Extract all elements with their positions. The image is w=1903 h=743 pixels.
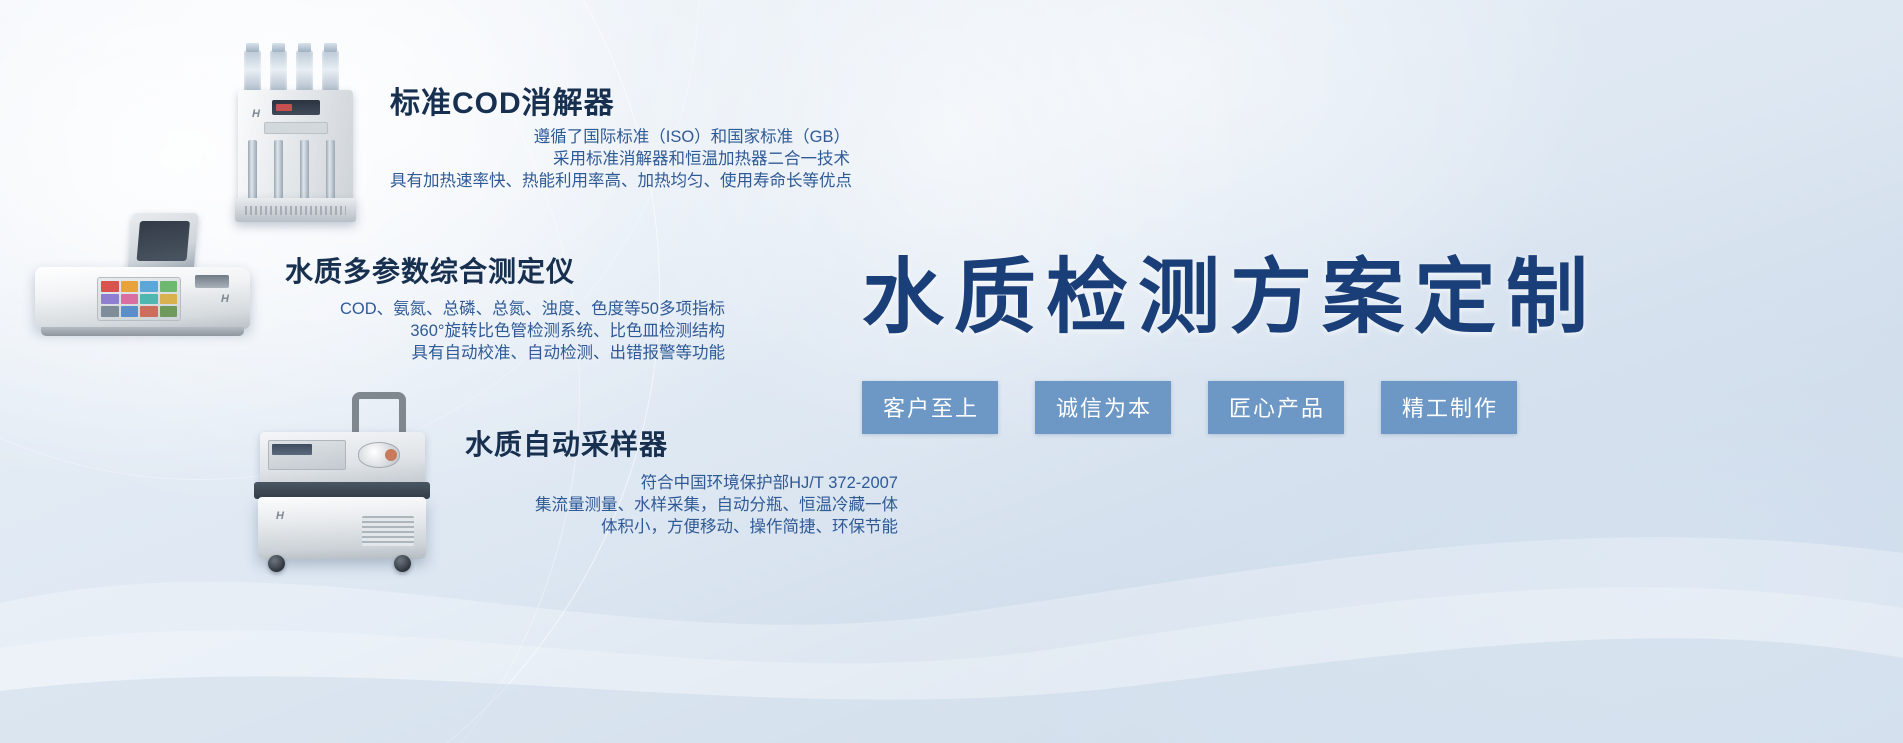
sampler-handle	[352, 392, 406, 434]
cod-digester-image: H	[238, 50, 353, 220]
product-desc-line: COD、氨氮、总磷、总氮、浊度、色度等50多项指标	[265, 298, 725, 320]
analyzer-touch-keypad	[97, 277, 181, 321]
multiparameter-analyzer-image: H	[35, 215, 250, 340]
sampler-vent-grill	[362, 516, 414, 546]
tagline-chip-customer-first[interactable]: 客户至上	[862, 381, 998, 434]
digester-stem	[248, 140, 257, 202]
sampler-peristaltic-pump	[358, 442, 400, 468]
analyzer-lid	[127, 213, 198, 275]
product-desc-line: 采用标准消解器和恒温加热器二合一技术	[390, 148, 850, 170]
digestion-tube	[244, 50, 261, 94]
digester-control-panel	[264, 122, 328, 134]
analyzer-sample-well	[195, 275, 229, 288]
tagline-chip-precision[interactable]: 精工制作	[1381, 381, 1517, 434]
digester-stem	[274, 140, 283, 202]
product-desc-line: 具有加热速率快、热能利用率高、加热均匀、使用寿命长等优点	[390, 170, 850, 192]
banner-headline: 水质检测方案定制	[862, 230, 1598, 349]
tagline-chip-group: 客户至上 诚信为本 匠心产品 精工制作	[862, 381, 1517, 434]
product-desc-line: 体积小，方便移动、操作简捷、环保节能	[430, 516, 898, 538]
digester-display	[272, 100, 320, 115]
product-desc-multiparameter-analyzer: COD、氨氮、总磷、总氮、浊度、色度等50多项指标 360°旋转比色管检测系统、…	[265, 298, 725, 364]
product-desc-line: 符合中国环境保护部HJ/T 372-2007	[430, 472, 898, 494]
brand-mark: H	[221, 293, 229, 305]
digestion-tube	[270, 50, 287, 94]
analyzer-base	[41, 327, 244, 336]
product-title-cod-digester: 标准COD消解器	[390, 78, 615, 122]
digestion-tube	[296, 50, 313, 94]
promo-banner: 标准COD消解器 遵循了国际标准（ISO）和国家标准（GB） 采用标准消解器和恒…	[0, 0, 1903, 743]
sampler-caster-wheel	[394, 555, 411, 572]
product-desc-line: 具有自动校准、自动检测、出错报警等功能	[265, 342, 725, 364]
product-desc-cod-digester: 遵循了国际标准（ISO）和国家标准（GB） 采用标准消解器和恒温加热器二合一技术…	[390, 126, 850, 192]
sampler-caster-wheel	[268, 555, 285, 572]
product-title-multiparameter-analyzer: 水质多参数综合测定仪	[285, 250, 575, 290]
product-desc-line: 集流量测量、水样采集，自动分瓶、恒温冷藏一体	[430, 494, 898, 516]
digester-stem	[300, 140, 309, 202]
digestion-tube	[322, 50, 339, 94]
digester-base	[235, 198, 356, 222]
product-desc-auto-sampler: 符合中国环境保护部HJ/T 372-2007 集流量测量、水样采集，自动分瓶、恒…	[430, 472, 898, 538]
product-desc-line: 360°旋转比色管检测系统、比色皿检测结构	[265, 320, 725, 342]
brand-mark: H	[276, 510, 284, 522]
tagline-chip-craftsmanship[interactable]: 匠心产品	[1208, 381, 1344, 434]
sampler-display	[272, 444, 312, 455]
brand-mark: H	[252, 108, 260, 120]
product-desc-line: 遵循了国际标准（ISO）和国家标准（GB）	[390, 126, 850, 148]
tagline-chip-integrity[interactable]: 诚信为本	[1035, 381, 1171, 434]
auto-sampler-image: H	[252, 392, 432, 572]
product-title-auto-sampler: 水质自动采样器	[465, 423, 668, 463]
digester-stem	[326, 140, 335, 202]
